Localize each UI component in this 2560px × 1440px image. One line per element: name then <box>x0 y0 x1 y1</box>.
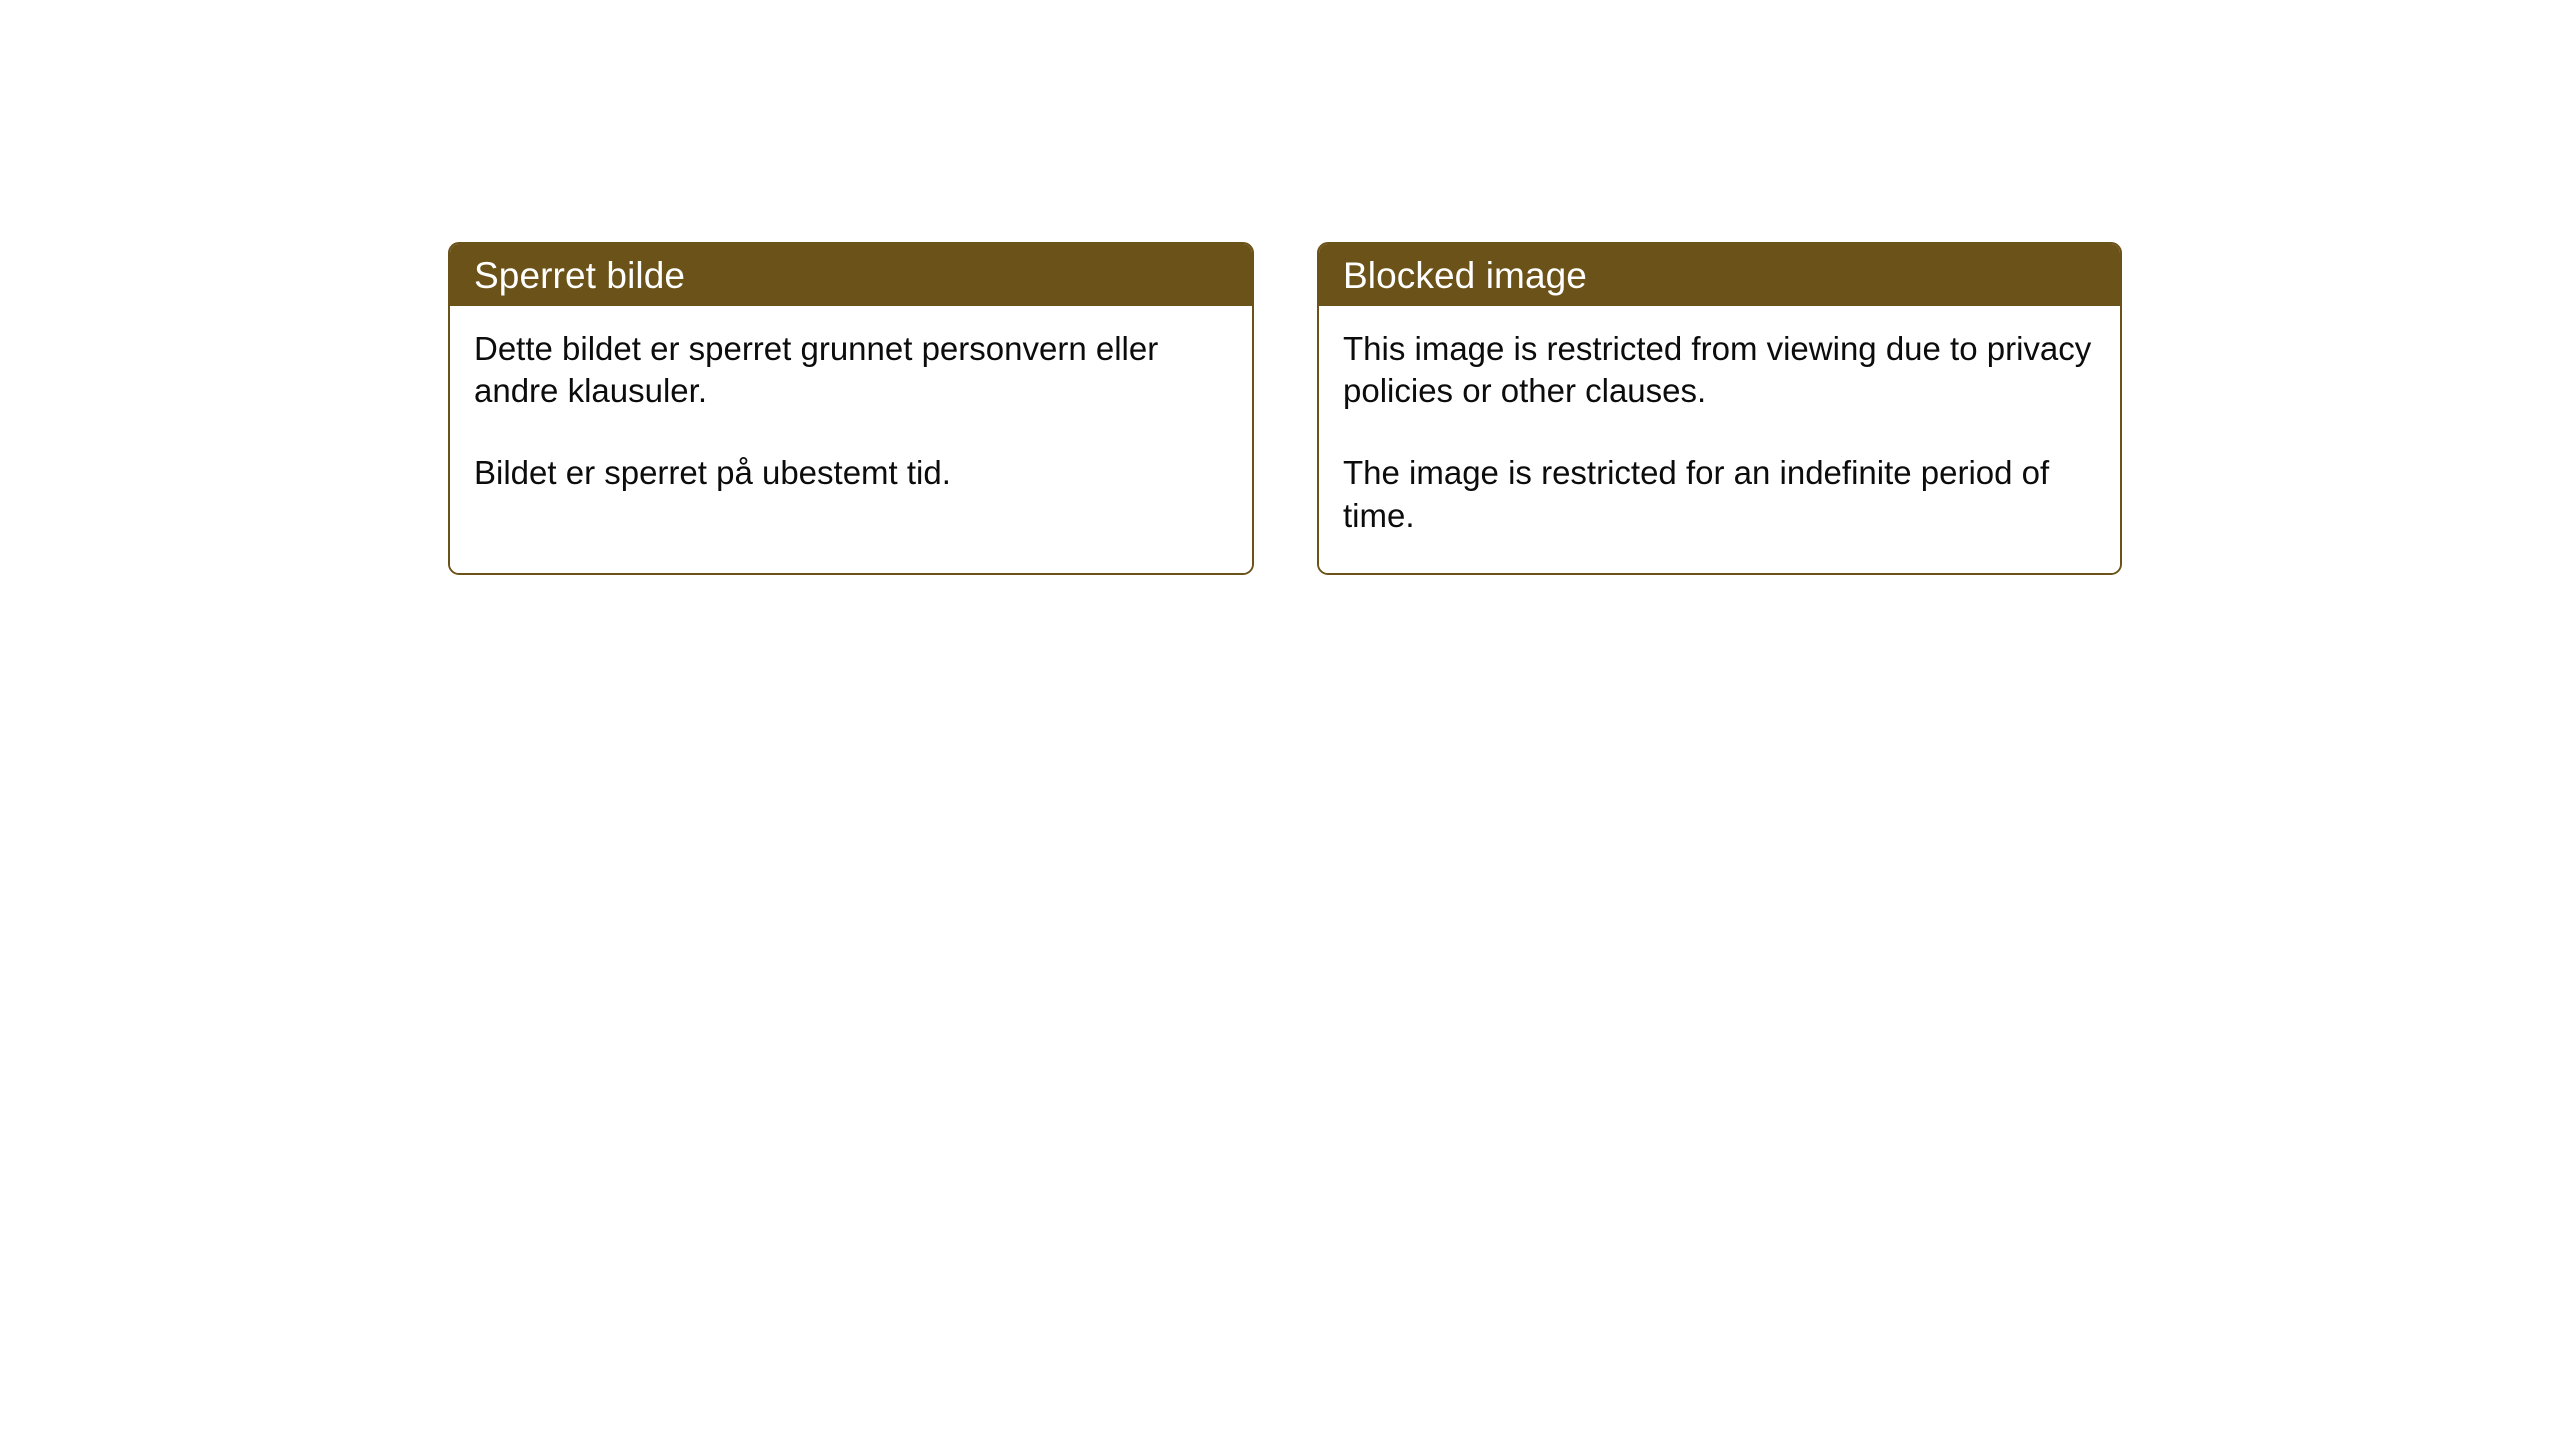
blocked-image-card-deck: Sperret bilde Dette bildet er sperret gr… <box>448 242 2122 575</box>
blocked-image-card-norwegian: Sperret bilde Dette bildet er sperret gr… <box>448 242 1254 575</box>
card-title-english: Blocked image <box>1343 257 1587 294</box>
card-paragraph-duration-norwegian: Bildet er sperret på ubestemt tid. <box>474 452 1226 494</box>
card-paragraph-duration-english: The image is restricted for an indefinit… <box>1343 452 2094 536</box>
card-paragraph-reason-english: This image is restricted from viewing du… <box>1343 328 2094 412</box>
card-body-english: This image is restricted from viewing du… <box>1319 306 2120 573</box>
card-header-norwegian: Sperret bilde <box>450 244 1252 306</box>
card-header-english: Blocked image <box>1319 244 2120 306</box>
card-paragraph-reason-norwegian: Dette bildet er sperret grunnet personve… <box>474 328 1226 412</box>
card-title-norwegian: Sperret bilde <box>474 257 685 294</box>
card-body-norwegian: Dette bildet er sperret grunnet personve… <box>450 306 1252 573</box>
blocked-image-card-english: Blocked image This image is restricted f… <box>1317 242 2122 575</box>
